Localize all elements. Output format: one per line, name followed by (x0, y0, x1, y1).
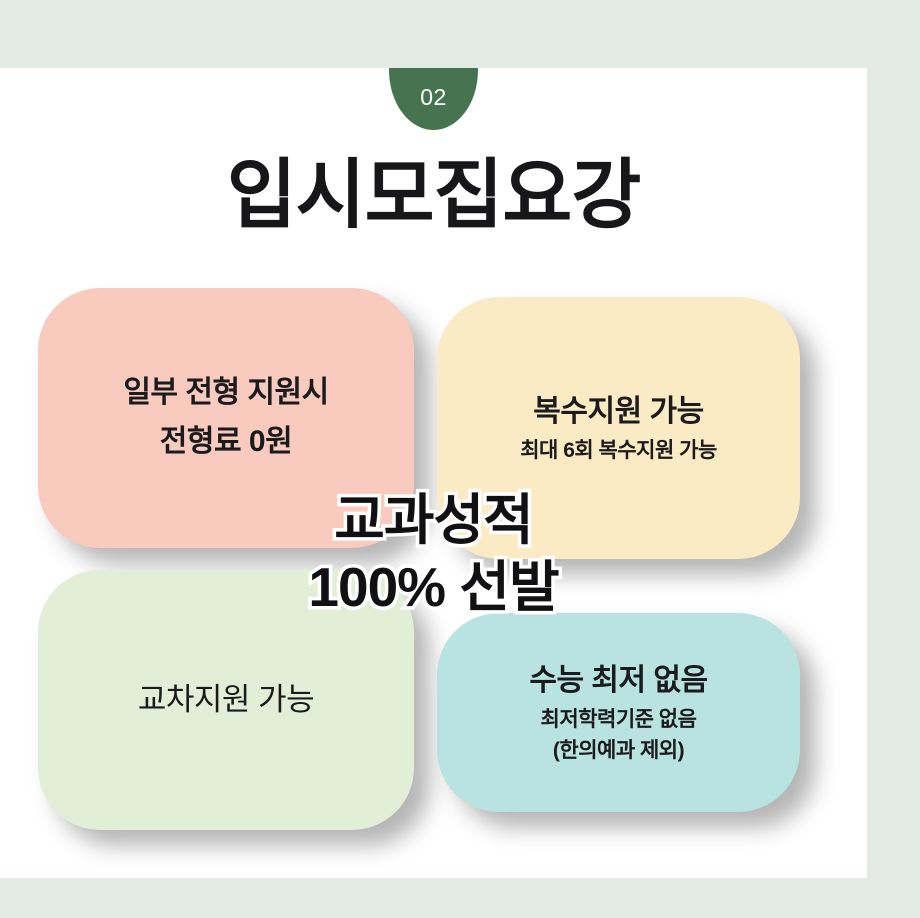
card-application-fee[interactable]: 일부 전형 지원시 전형료 0원 (38, 288, 414, 548)
card-csat-minimum-title: 수능 최저 없음 (529, 659, 707, 705)
card-cross-application-title: 교차지원 가능 (138, 678, 314, 723)
card-csat-minimum-subtitle-line1: 최저학력기준 없음 (541, 706, 697, 735)
card-csat-minimum-subtitle-line2: (한의예과 제외) (553, 737, 684, 766)
card-application-fee-title-line1: 일부 전형 지원시 (123, 369, 328, 418)
card-multiple-application-title: 복수지원 가능 (533, 390, 703, 436)
card-multiple-application[interactable]: 복수지원 가능 최대 6회 복수지원 가능 (437, 297, 800, 559)
card-multiple-application-subtitle: 최대 6회 복수지원 가능 (520, 437, 717, 466)
slide-card: 02 입시모집요강 일부 전형 지원시 전형료 0원 복수지원 가능 최대 6회… (0, 68, 867, 878)
feature-card-grid: 일부 전형 지원시 전형료 0원 복수지원 가능 최대 6회 복수지원 가능 교… (0, 68, 867, 878)
card-application-fee-title-line2: 전형료 0원 (160, 418, 292, 467)
card-cross-application[interactable]: 교차지원 가능 (38, 570, 414, 830)
card-csat-minimum[interactable]: 수능 최저 없음 최저학력기준 없음 (한의예과 제외) (437, 613, 800, 812)
